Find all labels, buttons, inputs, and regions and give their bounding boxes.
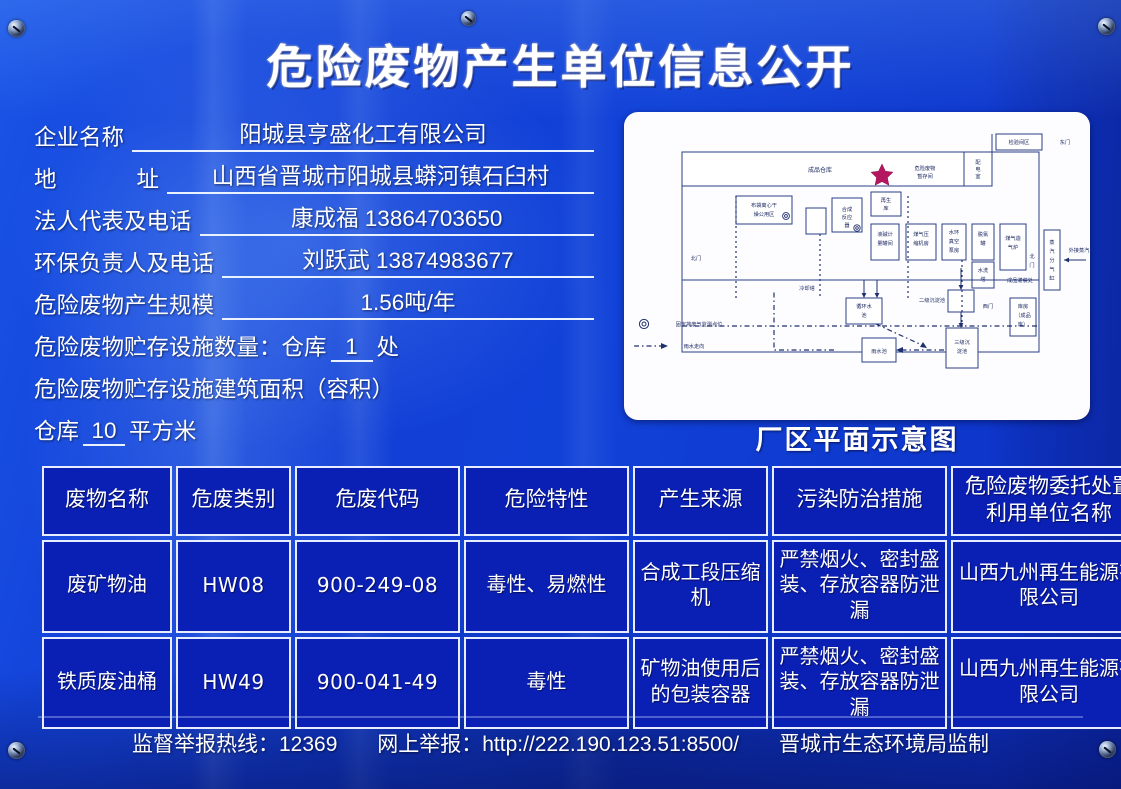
screw-icon	[461, 11, 476, 26]
th-hazard-property: 危险特性	[464, 466, 629, 536]
th-source: 产生来源	[633, 466, 768, 536]
svg-text:循环水: 循环水	[856, 302, 872, 310]
info-row-company-name: 企业名称 阳城县亨盛化工有限公司	[34, 110, 594, 152]
svg-text:塔: 塔	[980, 275, 986, 283]
footer-divider	[38, 716, 1083, 718]
svg-text:门: 门	[1029, 261, 1034, 269]
suffix-storage-area: 平方米	[129, 414, 197, 446]
svg-text:库: 库	[883, 204, 888, 212]
svg-text:淀池: 淀池	[957, 347, 967, 355]
value-env-officer: 刘跃武 13874983677	[222, 243, 594, 278]
info-row-env-officer: 环保负责人及电话 刘跃武 13874983677	[34, 236, 594, 278]
table-header-row: 废物名称 危废类别 危废代码 危险特性 产生来源 污染防治措施 危险废物委托处置…	[42, 466, 1121, 536]
hazardous-waste-table: 废物名称 危废类别 危废代码 危险特性 产生来源 污染防治措施 危险废物委托处置…	[38, 462, 1121, 733]
svg-text:水洗: 水洗	[978, 266, 989, 274]
cell-source: 合成工段压缩机	[633, 540, 768, 633]
label-address-char1: 地	[34, 162, 57, 194]
th-measures: 污染防治措施	[772, 466, 947, 536]
svg-text:池: 池	[861, 311, 866, 319]
page-title: 危险废物产生单位信息公开	[0, 31, 1121, 97]
svg-text:（成品: （成品	[1015, 311, 1031, 319]
cell-waste-name: 废矿物油	[42, 540, 172, 633]
svg-text:库房: 库房	[1018, 302, 1028, 310]
cell-measures: 严禁烟火、密封盛装、存放容器防泄漏	[772, 540, 947, 633]
svg-text:液碱计: 液碱计	[877, 230, 893, 238]
value-storage-area: 10	[83, 418, 125, 446]
svg-text:成品仓库: 成品仓库	[808, 166, 832, 174]
label-company-name: 企业名称	[34, 120, 124, 152]
svg-text:雨水走向: 雨水走向	[684, 342, 705, 350]
prefix-storage-area: 仓库	[34, 414, 79, 446]
th-waste-code: 危废代码	[295, 466, 460, 536]
label-generation-scale: 危险废物产生规模	[34, 288, 214, 320]
svg-text:东门: 东门	[1060, 138, 1070, 146]
info-row-generation-scale: 危险废物产生规模 1.56吨/年	[34, 278, 594, 320]
cell-waste-code: 900-249-08	[295, 540, 460, 633]
info-row-storage-area-label: 危险废物贮存设施建筑面积（容积）	[34, 362, 594, 404]
th-waste-name: 废物名称	[42, 466, 172, 536]
svg-text:再生: 再生	[881, 196, 891, 204]
svg-text:分: 分	[1049, 256, 1054, 264]
value-storage-count: 1	[331, 334, 373, 362]
svg-text:西门: 西门	[983, 302, 993, 310]
svg-text:汽: 汽	[1049, 247, 1055, 255]
svg-text:器: 器	[844, 222, 850, 229]
svg-text:配: 配	[975, 159, 981, 166]
svg-text:罐: 罐	[980, 239, 985, 247]
svg-text:水环: 水环	[949, 228, 959, 236]
svg-text:煤气压: 煤气压	[913, 230, 929, 238]
label-address-char2: 址	[136, 162, 159, 194]
svg-text:缩机房: 缩机房	[913, 239, 929, 247]
svg-text:脱氯: 脱氯	[978, 230, 989, 238]
th-waste-category: 危废类别	[176, 466, 291, 536]
svg-text:泵房: 泵房	[949, 246, 959, 254]
svg-text:气: 气	[1049, 265, 1054, 273]
info-row-legal-rep: 法人代表及电话 康成福 13864703650	[34, 194, 594, 236]
label-storage-count: 危险废物贮存设施数量：仓库	[34, 330, 327, 362]
value-legal-rep: 康成福 13864703650	[200, 201, 594, 236]
svg-text:二级沉淀池: 二级沉淀池	[919, 296, 945, 304]
svg-text:三级沉: 三级沉	[954, 338, 970, 346]
svg-text:布袋离心干: 布袋离心干	[751, 201, 777, 209]
plan-legend: 固定排废气监测点位 雨水走向	[634, 319, 722, 350]
svg-text:北门: 北门	[691, 254, 701, 262]
svg-text:反应: 反应	[842, 213, 852, 221]
info-row-storage-count: 危险废物贮存设施数量：仓库 1 处	[34, 320, 594, 362]
svg-text:暂存间: 暂存间	[917, 172, 933, 180]
svg-text:煤气造: 煤气造	[1005, 234, 1021, 242]
info-row-storage-area: 仓库 10 平方米	[34, 404, 594, 446]
info-row-address: 地 址 山西省晋城市阳城县蟒河镇石臼村	[34, 152, 594, 194]
cell-disposal-unit: 山西九州再生能源有限公司	[951, 540, 1121, 633]
value-address: 山西省晋城市阳城县蟒河镇石臼村	[167, 159, 594, 194]
svg-text:燥公用区: 燥公用区	[754, 210, 775, 218]
footer-bar: 监督举报热线：12369 网上举报：http://222.190.123.51:…	[0, 728, 1121, 758]
svg-text:冷却塔: 冷却塔	[799, 284, 815, 292]
svg-text:合成: 合成	[842, 205, 852, 213]
table-row: 废矿物油 HW08 900-249-08 毒性、易燃性 合成工段压缩机 严禁烟火…	[42, 540, 1121, 633]
svg-text:电: 电	[975, 165, 980, 173]
svg-text:真空: 真空	[949, 237, 959, 245]
site-plan-caption: 厂区平面示意图	[624, 418, 1090, 457]
svg-text:固定排废气监测点位: 固定排废气监测点位	[676, 320, 723, 328]
value-generation-scale: 1.56吨/年	[222, 285, 594, 320]
svg-text:外接蒸汽: 外接蒸汽	[1069, 246, 1090, 254]
label-storage-area: 危险废物贮存设施建筑面积（容积）	[34, 372, 394, 404]
label-env-officer: 环保负责人及电话	[34, 246, 214, 278]
suffix-storage-count: 处	[377, 330, 400, 362]
footer-authority: 晋城市生态环境局监制	[779, 728, 989, 758]
svg-text:北: 北	[1029, 252, 1035, 260]
svg-text:危险废物: 危险废物	[915, 164, 936, 172]
footer-hotline: 监督举报热线：12369	[132, 728, 337, 758]
svg-text:库）: 库）	[1018, 320, 1028, 328]
label-legal-rep: 法人代表及电话	[34, 204, 192, 236]
cell-waste-category: HW08	[176, 540, 291, 633]
cell-hazard-property: 毒性、易燃性	[464, 540, 629, 633]
svg-text:蒸: 蒸	[1049, 238, 1054, 246]
svg-text:缸: 缸	[1049, 274, 1054, 282]
svg-text:气炉: 气炉	[1008, 243, 1018, 251]
svg-text:检验间区: 检验间区	[1009, 138, 1030, 146]
value-company-name: 阳城县亨盛化工有限公司	[132, 117, 594, 152]
site-plan-diagram: .bx{fill:#ffffff;stroke:#2a3f86;stroke-w…	[624, 112, 1090, 420]
svg-text:室: 室	[975, 172, 980, 180]
svg-text:雨水池: 雨水池	[871, 347, 887, 355]
svg-text:量罐间: 量罐间	[877, 239, 893, 247]
information-board: 危险废物产生单位信息公开 企业名称 阳城县亨盛化工有限公司 地 址 山西省晋城市…	[0, 0, 1121, 789]
footer-online-report[interactable]: 网上举报：http://222.190.123.51:8500/	[377, 728, 739, 758]
company-info-block: 企业名称 阳城县亨盛化工有限公司 地 址 山西省晋城市阳城县蟒河镇石臼村 法人代…	[34, 110, 594, 446]
th-disposal-unit: 危险废物委托处置利用单位名称	[951, 466, 1121, 536]
label-address: 地 址	[34, 162, 159, 194]
